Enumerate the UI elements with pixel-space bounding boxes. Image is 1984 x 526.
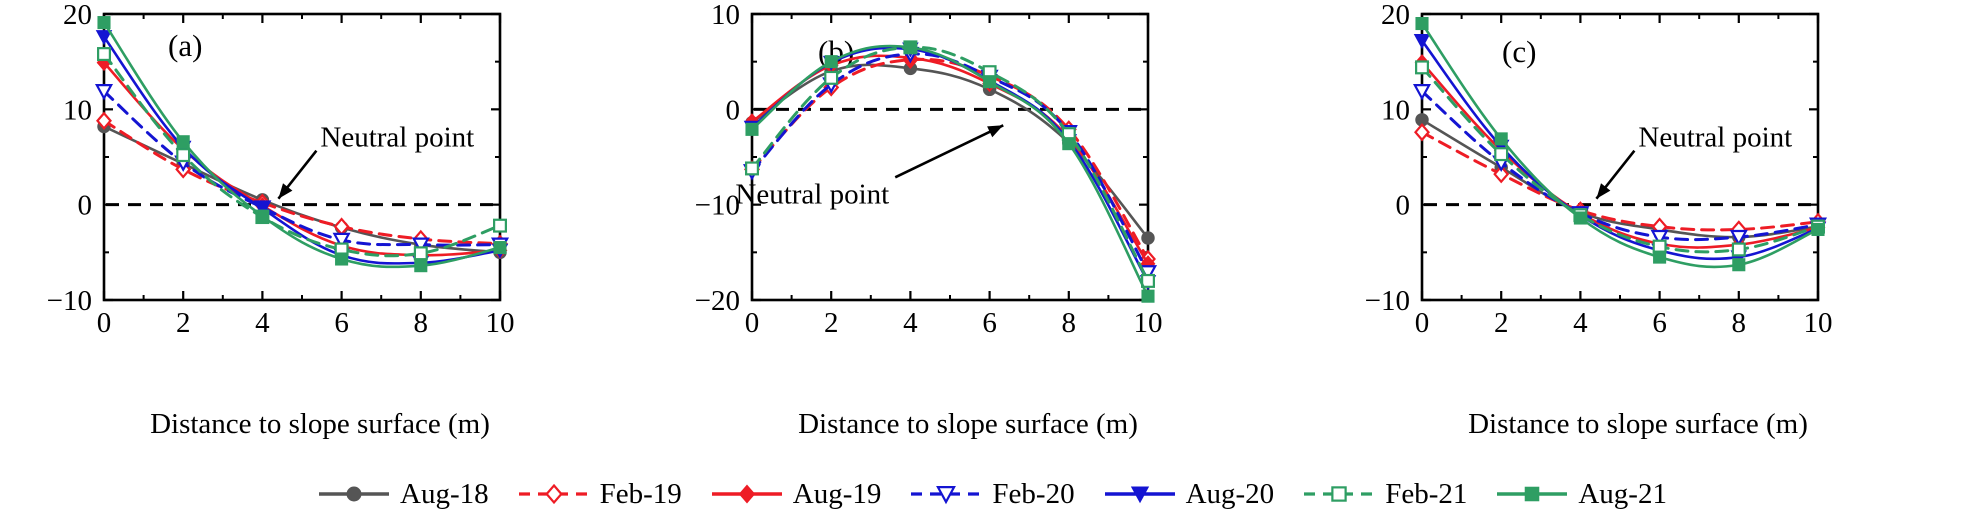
legend-label: Aug-21 [1576,480,1667,509]
x-axis-label-c: Distance to slope surface (m) [1318,408,1958,441]
y-tick-label: 10 [711,0,740,31]
series-feb-21 [1416,61,1824,255]
neutral-point-label: Neutral point [1638,122,1792,154]
x-tick-label: 0 [1415,307,1430,339]
x-tick-label: 10 [486,307,515,339]
x-tick-label: 2 [176,307,191,339]
legend-swatch-aug-21 [1495,479,1569,509]
legend-label: Feb-21 [1383,480,1467,509]
legend-label: Aug-18 [398,480,489,509]
legend-swatch-feb-21 [1302,479,1376,509]
x-tick-label: 6 [982,307,997,339]
x-tick-label: 4 [903,307,918,339]
x-tick-label: 0 [97,307,112,339]
x-tick-label: 10 [1804,307,1833,339]
legend-swatch-aug-20 [1103,479,1177,509]
neutral-point-label: Neutral point [320,122,474,154]
panel-c: Shear stress (kPa) 0246810−1001020(c)Neu… [1318,0,1958,460]
x-tick-label: 0 [745,307,760,339]
panel-tag: (a) [168,28,202,63]
legend-item-feb-19[interactable]: Feb-19 [517,479,682,509]
legend-swatch-aug-19 [710,479,784,509]
figure-root: Shear stress (kPa) 0246810−1001020(a)Neu… [0,0,1984,526]
legend-swatch-feb-19 [517,479,591,509]
x-tick-label: 8 [414,307,429,339]
neutral-point-annotation: Neutral point [278,122,474,199]
legend-item-feb-21[interactable]: Feb-21 [1302,479,1467,509]
y-tick-label: −10 [47,285,92,317]
neutral-point-annotation: Neutral point [735,125,1003,210]
y-tick-label: 0 [726,94,741,126]
x-tick-label: 4 [1573,307,1588,339]
y-tick-label: 20 [63,0,92,31]
plot-area-a: 0246810−1001020(a)Neutral point [0,0,640,400]
plot-area-b: 0246810−20−10010(b)Neutral point [648,0,1288,400]
legend: Aug-18Feb-19Aug-19Feb-20Aug-20Feb-21Aug-… [0,466,1984,522]
x-tick-label: 4 [255,307,270,339]
legend-item-aug-21[interactable]: Aug-21 [1495,479,1667,509]
neutral-point-annotation: Neutral point [1596,122,1792,199]
panel-b: Shear stress (kPa) 0246810−20−10010(b)Ne… [648,0,1288,460]
panel-a: Shear stress (kPa) 0246810−1001020(a)Neu… [0,0,640,460]
x-tick-label: 2 [824,307,839,339]
legend-item-aug-20[interactable]: Aug-20 [1103,479,1275,509]
legend-label: Aug-20 [1184,480,1275,509]
x-tick-label: 6 [334,307,349,339]
x-tick-label: 8 [1732,307,1747,339]
y-tick-label: 20 [1381,0,1410,31]
legend-label: Feb-20 [990,480,1074,509]
x-tick-label: 6 [1652,307,1667,339]
legend-item-feb-20[interactable]: Feb-20 [909,479,1074,509]
legend-label: Aug-19 [791,480,882,509]
legend-swatch-aug-18 [317,479,391,509]
neutral-point-label: Neutral point [735,178,889,210]
legend-swatch-feb-20 [909,479,983,509]
x-tick-label: 2 [1494,307,1509,339]
x-axis-label-b: Distance to slope surface (m) [648,408,1288,441]
series-feb-20 [1415,85,1825,244]
legend-label: Feb-19 [598,480,682,509]
panel-tag: (c) [1502,34,1536,69]
legend-item-aug-19[interactable]: Aug-19 [710,479,882,509]
y-tick-label: −20 [695,285,740,317]
y-tick-label: 10 [1381,94,1410,126]
x-tick-label: 10 [1134,307,1163,339]
x-axis-label-a: Distance to slope surface (m) [0,408,640,441]
y-tick-label: 0 [78,190,93,222]
y-tick-label: −10 [695,190,740,222]
series-aug-19 [97,55,506,263]
series-aug-18 [746,62,1154,244]
y-tick-label: −10 [1365,285,1410,317]
x-tick-label: 8 [1062,307,1077,339]
plot-area-c: 0246810−1001020(c)Neutral point [1318,0,1958,400]
y-tick-label: 10 [63,94,92,126]
y-tick-label: 0 [1396,190,1411,222]
legend-item-aug-18[interactable]: Aug-18 [317,479,489,509]
